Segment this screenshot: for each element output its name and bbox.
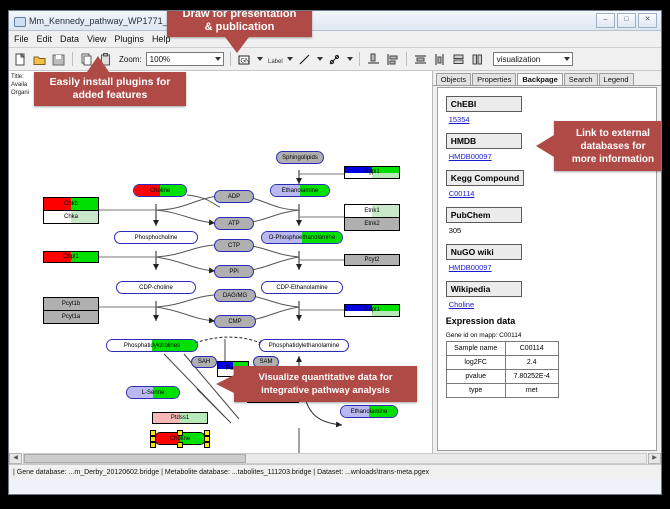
node-label: CMP xyxy=(228,319,241,325)
align-left-icon[interactable] xyxy=(385,52,400,67)
resize-handle-se[interactable] xyxy=(204,442,210,448)
node-label: CDP-Ethanolamine xyxy=(276,285,327,291)
metabolite-node[interactable]: Phosphatidylcholines xyxy=(106,339,198,352)
node-label: Etnk2 xyxy=(364,221,379,227)
menu-item-edit[interactable]: Edit xyxy=(37,34,53,44)
callout-link: Link to external databases for more info… xyxy=(554,121,662,171)
selected-node-group[interactable]: Choline xyxy=(150,430,210,446)
chevron-down-icon[interactable] xyxy=(257,57,263,61)
gene-node[interactable]: Pcyt1b xyxy=(44,298,98,310)
node-label: Chpt1 xyxy=(63,254,79,260)
db-header-kegg: Kegg Compound xyxy=(446,170,524,186)
node-label: PPi xyxy=(229,269,238,275)
menu-item-data[interactable]: Data xyxy=(60,34,79,44)
toolbar-separator xyxy=(406,52,407,66)
gene-product-icon[interactable]: GN xyxy=(237,52,252,67)
pathvisio-window: Mm_Kennedy_pathway_WP1771_45176.gpml – □… xyxy=(8,10,662,495)
zoom-value: 100% xyxy=(150,55,170,64)
callout-link-pointer xyxy=(536,135,554,157)
callout-link-text: Link to external databases for more info… xyxy=(572,127,654,166)
metabolite-node[interactable]: O-Phosphoethanolamine xyxy=(261,231,343,244)
window-controls: – □ ✕ xyxy=(596,13,657,28)
expression-key: pvalue xyxy=(446,370,505,384)
metabolite-node[interactable]: CMP xyxy=(214,315,256,328)
zoom-combo[interactable]: 100% xyxy=(146,52,224,66)
gene-node[interactable]: Chkb xyxy=(44,198,98,210)
metabolite-node[interactable]: CDP-choline xyxy=(116,281,196,294)
toolbar-separator xyxy=(72,52,73,66)
menu-item-view[interactable]: View xyxy=(87,34,106,44)
node-label: Pcyt2 xyxy=(364,257,379,263)
gene-node[interactable]: Pcyt2 xyxy=(344,254,400,266)
app-icon xyxy=(13,15,25,27)
metabolite-node[interactable]: CTP xyxy=(214,239,254,252)
same-height-icon[interactable] xyxy=(470,52,485,67)
resize-handle-n[interactable] xyxy=(177,430,183,436)
db-link-kegg[interactable]: C00114 xyxy=(449,189,656,198)
save-icon[interactable] xyxy=(51,52,66,67)
gene-node[interactable]: Ptdss1 xyxy=(152,412,208,424)
db-header-nugo: NuGO wiki xyxy=(446,244,522,260)
node-label: L-Serine xyxy=(142,390,165,396)
metabolite-node[interactable]: Phosphatidylethanolamine xyxy=(259,339,349,352)
node-label: SAM xyxy=(259,359,272,365)
metabolite-node[interactable]: CDP-Ethanolamine xyxy=(261,281,343,294)
node-label: SAH xyxy=(198,359,210,365)
tab-backpage[interactable]: Backpage xyxy=(517,73,562,85)
node-label: Phosphatidylethanolamine xyxy=(269,343,339,349)
menu-bar: File Edit Data View Plugins Help xyxy=(9,31,661,48)
callout-visualize-text: Visualize quantitative data for integrat… xyxy=(259,371,393,397)
svg-text:Label: Label xyxy=(268,59,283,65)
expression-value: 7.80252E-4 xyxy=(505,370,558,384)
gene-node[interactable]: Chpt1 xyxy=(43,251,99,263)
node-label: Ethanolamine xyxy=(351,409,388,415)
db-value-pubchem: 305 xyxy=(449,226,656,235)
toolbar-separator xyxy=(359,52,360,66)
node-label: Ethanolamine xyxy=(282,188,319,194)
metabolite-node[interactable]: ADP xyxy=(214,190,254,203)
tab-objects[interactable]: Objects xyxy=(436,73,471,85)
same-width-icon[interactable] xyxy=(451,52,466,67)
toolbar-separator xyxy=(230,52,231,66)
side-panel-tabs: Objects Properties Backpage Search Legen… xyxy=(433,71,661,86)
tab-legend[interactable]: Legend xyxy=(599,73,634,85)
node-label: ATP xyxy=(228,221,239,227)
metabolite-node[interactable]: SAH xyxy=(191,356,217,368)
table-row: Sample name C00114 xyxy=(446,342,558,356)
node-label: Ptdss1 xyxy=(171,415,189,421)
chevron-down-icon[interactable] xyxy=(347,57,353,61)
zoom-label: Zoom: xyxy=(119,55,142,64)
table-row: log2FC 2.4 xyxy=(446,356,558,370)
callout-draw-pointer xyxy=(225,37,249,53)
node-label: Etnk1 xyxy=(364,208,379,214)
node-label: CTP xyxy=(228,243,240,249)
tab-search[interactable]: Search xyxy=(564,73,598,85)
node-label: O-Phosphoethanolamine xyxy=(269,235,335,241)
node-label: Phosphocholine xyxy=(135,235,178,241)
align-bottom-icon[interactable] xyxy=(366,52,381,67)
horizontal-scrollbar[interactable]: ◀ ▶ xyxy=(9,453,661,464)
resize-handle-s[interactable] xyxy=(177,442,183,448)
gene-group-pcyt1[interactable]: Pcyt1b Pcyt1a xyxy=(43,297,99,324)
gene-group-chk[interactable]: Chkb Chka xyxy=(43,197,99,224)
menu-item-file[interactable]: File xyxy=(14,34,29,44)
callout-draw: Draw for presentation & publication xyxy=(167,10,312,37)
callout-draw-text: Draw for presentation & publication xyxy=(183,10,297,34)
chevron-down-icon xyxy=(215,57,221,61)
callout-visualize: Visualize quantitative data for integrat… xyxy=(234,366,417,402)
callout-visualize-pointer xyxy=(216,375,234,393)
node-label: Cept1 xyxy=(364,307,380,313)
open-folder-icon[interactable] xyxy=(32,52,47,67)
metabolite-node[interactable]: ATP xyxy=(214,217,254,230)
node-label: Chka xyxy=(64,214,78,220)
table-row: type met xyxy=(446,384,558,398)
expression-value: 2.4 xyxy=(505,356,558,370)
metabolite-node[interactable]: Ethanolamine xyxy=(340,405,398,418)
node-label: Choline xyxy=(170,436,190,442)
resize-handle-sw[interactable] xyxy=(150,442,156,448)
new-file-icon[interactable] xyxy=(13,52,28,67)
expression-gene-id: Gene id on mapp: C00114 xyxy=(446,332,656,339)
db-link-wikipedia[interactable]: Choline xyxy=(449,300,656,309)
callout-plugins-pointer xyxy=(87,56,109,72)
node-label: DAG/MG xyxy=(223,293,247,299)
scroll-thumb[interactable] xyxy=(24,454,246,463)
label-icon[interactable]: Label xyxy=(267,52,282,67)
distribute-vertical-icon[interactable] xyxy=(413,52,428,67)
metabolite-node[interactable]: PPi xyxy=(214,265,254,278)
scroll-right-button[interactable]: ▶ xyxy=(648,453,661,464)
node-label: CDP-choline xyxy=(139,285,173,291)
node-label: Phosphatidylcholines xyxy=(124,343,180,349)
expression-key: Sample name xyxy=(446,342,505,356)
status-bar: | Gene database: ...m_Derby_20120602.bri… xyxy=(9,464,661,479)
metabolite-node[interactable]: Sphingolipids xyxy=(276,151,324,164)
metabolite-node[interactable]: L-Serine xyxy=(126,386,180,399)
gene-node[interactable]: Etnk2 xyxy=(345,217,399,230)
tab-properties[interactable]: Properties xyxy=(472,73,516,85)
db-header-chebi: ChEBI xyxy=(446,96,522,112)
db-header-pubchem: PubChem xyxy=(446,207,522,223)
node-label: Chkb xyxy=(64,201,78,207)
callout-plugins-text: Easily install plugins for added feature… xyxy=(50,76,171,102)
svg-text:GN: GN xyxy=(240,58,249,64)
expression-key: log2FC xyxy=(446,356,505,370)
node-label: ADP xyxy=(228,194,240,200)
minimize-button[interactable]: – xyxy=(596,13,615,28)
metabolite-node[interactable]: Choline xyxy=(133,184,187,197)
gene-node[interactable]: Chka xyxy=(44,210,98,223)
db-header-wikipedia: Wikipedia xyxy=(446,281,522,297)
distribute-horizontal-icon[interactable] xyxy=(432,52,447,67)
scroll-left-button[interactable]: ◀ xyxy=(9,453,22,464)
chevron-down-icon xyxy=(564,57,570,61)
expression-value: C00114 xyxy=(505,342,558,356)
node-label: Pcyt1b xyxy=(62,301,80,307)
node-label: Pcyt1a xyxy=(62,314,80,320)
metabolite-node[interactable]: Phosphocholine xyxy=(114,231,198,244)
scroll-track[interactable] xyxy=(23,453,647,464)
visualization-value: visualization xyxy=(497,55,541,64)
status-text: | Gene database: ...m_Derby_20120602.bri… xyxy=(13,469,429,476)
db-header-hmdb: HMDB xyxy=(446,133,522,149)
metabolite-node[interactable]: Ethanolamine xyxy=(270,184,330,197)
title-bar: Mm_Kennedy_pathway_WP1771_45176.gpml – □… xyxy=(9,11,661,31)
table-row: pvalue 7.80252E-4 xyxy=(446,370,558,384)
node-label: Sgpl1 xyxy=(364,169,379,175)
gene-node[interactable]: Pcyt1a xyxy=(44,310,98,323)
callout-plugins: Easily install plugins for added feature… xyxy=(34,72,186,106)
expression-table: Sample name C00114 log2FC 2.4 pvalue 7.8… xyxy=(446,341,559,398)
line-icon[interactable] xyxy=(297,52,312,67)
expression-data-title: Expression data xyxy=(446,316,656,326)
gene-node[interactable]: Etnk1 xyxy=(345,205,399,217)
visualization-combo[interactable]: visualization xyxy=(493,52,573,66)
maximize-button[interactable]: □ xyxy=(617,13,636,28)
menu-item-plugins[interactable]: Plugins xyxy=(114,34,144,44)
chevron-down-icon[interactable] xyxy=(317,57,323,61)
expression-key: type xyxy=(446,384,505,398)
gene-group-etnk[interactable]: Etnk1 Etnk2 xyxy=(344,204,400,231)
db-link-nugo[interactable]: HMDB00097 xyxy=(449,263,656,272)
anchor-icon[interactable] xyxy=(327,52,342,67)
metabolite-node[interactable]: DAG/MG xyxy=(214,289,256,302)
node-label: Choline xyxy=(150,188,170,194)
close-button[interactable]: ✕ xyxy=(638,13,657,28)
node-label: Sphingolipids xyxy=(282,155,318,161)
expression-value: met xyxy=(505,384,558,398)
